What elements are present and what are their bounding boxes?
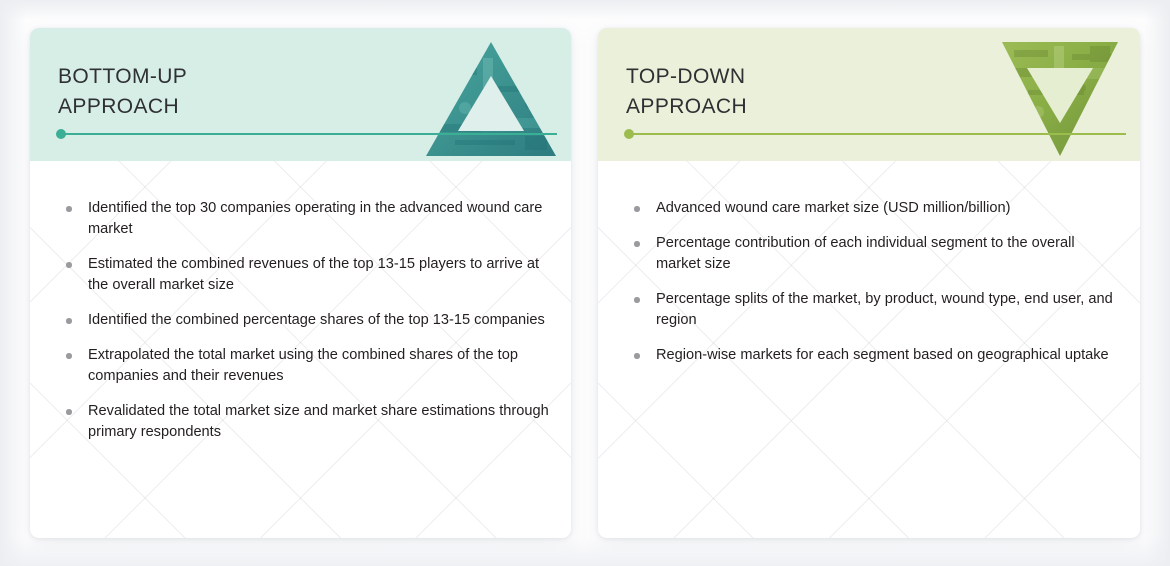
list-item: Identified the combined percentage share… [58,310,549,331]
list-item: Percentage splits of the market, by prod… [626,289,1118,331]
list-item-text: Revalidated the total market size and ma… [88,403,549,440]
list-item: Revalidated the total market size and ma… [58,401,549,443]
bullet-list-bottom-up: Identified the top 30 companies operatin… [58,198,549,443]
list-item-text: Region-wise markets for each segment bas… [656,347,1109,363]
bullet-dot-icon [66,206,72,212]
bullet-dot-icon [66,262,72,268]
bullet-dot-icon [66,353,72,359]
card-body-bottom-up: Identified the top 30 companies operatin… [30,161,571,443]
rule-line [62,133,557,135]
list-item-text: Percentage contribution of each individu… [656,235,1075,272]
list-item-text: Identified the top 30 companies operatin… [88,200,542,237]
card-title-bottom-up: BOTTOM-UP APPROACH [58,62,187,122]
card-body-top-down: Advanced wound care market size (USD mil… [598,161,1140,366]
list-item: Advanced wound care market size (USD mil… [626,198,1118,219]
list-item-text: Estimated the combined revenues of the t… [88,256,539,293]
list-item-text: Identified the combined percentage share… [88,312,545,328]
bullet-dot-icon [634,241,640,247]
list-item-text: Advanced wound care market size (USD mil… [656,200,1010,216]
list-item: Percentage contribution of each individu… [626,233,1118,275]
list-item: Extrapolated the total market using the … [58,345,549,387]
header-rule-bottom-up [56,129,557,139]
bullet-dot-icon [634,353,640,359]
card-title-top-down: TOP-DOWN APPROACH [626,62,747,122]
list-item: Region-wise markets for each segment bas… [626,345,1118,366]
list-item: Estimated the combined revenues of the t… [58,254,549,296]
rule-dot [624,129,634,139]
cards-container: BOTTOM-UP APPROACH [0,0,1170,566]
bullet-dot-icon [66,409,72,415]
bullet-dot-icon [634,206,640,212]
bullet-list-top-down: Advanced wound care market size (USD mil… [626,198,1118,366]
bullet-dot-icon [66,318,72,324]
page-root: BOTTOM-UP APPROACH [0,0,1170,566]
triangle-down-icon [994,28,1126,161]
card-top-down: TOP-DOWN APPROACH [598,28,1140,538]
list-item-text: Percentage splits of the market, by prod… [656,291,1113,328]
header-rule-top-down [624,129,1126,139]
rule-dot [56,129,66,139]
list-item-text: Extrapolated the total market using the … [88,347,518,384]
triangle-up-icon [425,28,557,161]
bullet-dot-icon [634,297,640,303]
rule-line [630,133,1126,135]
card-header-bottom-up: BOTTOM-UP APPROACH [30,28,571,161]
card-bottom-up: BOTTOM-UP APPROACH [30,28,571,538]
list-item: Identified the top 30 companies operatin… [58,198,549,240]
card-header-top-down: TOP-DOWN APPROACH [598,28,1140,161]
